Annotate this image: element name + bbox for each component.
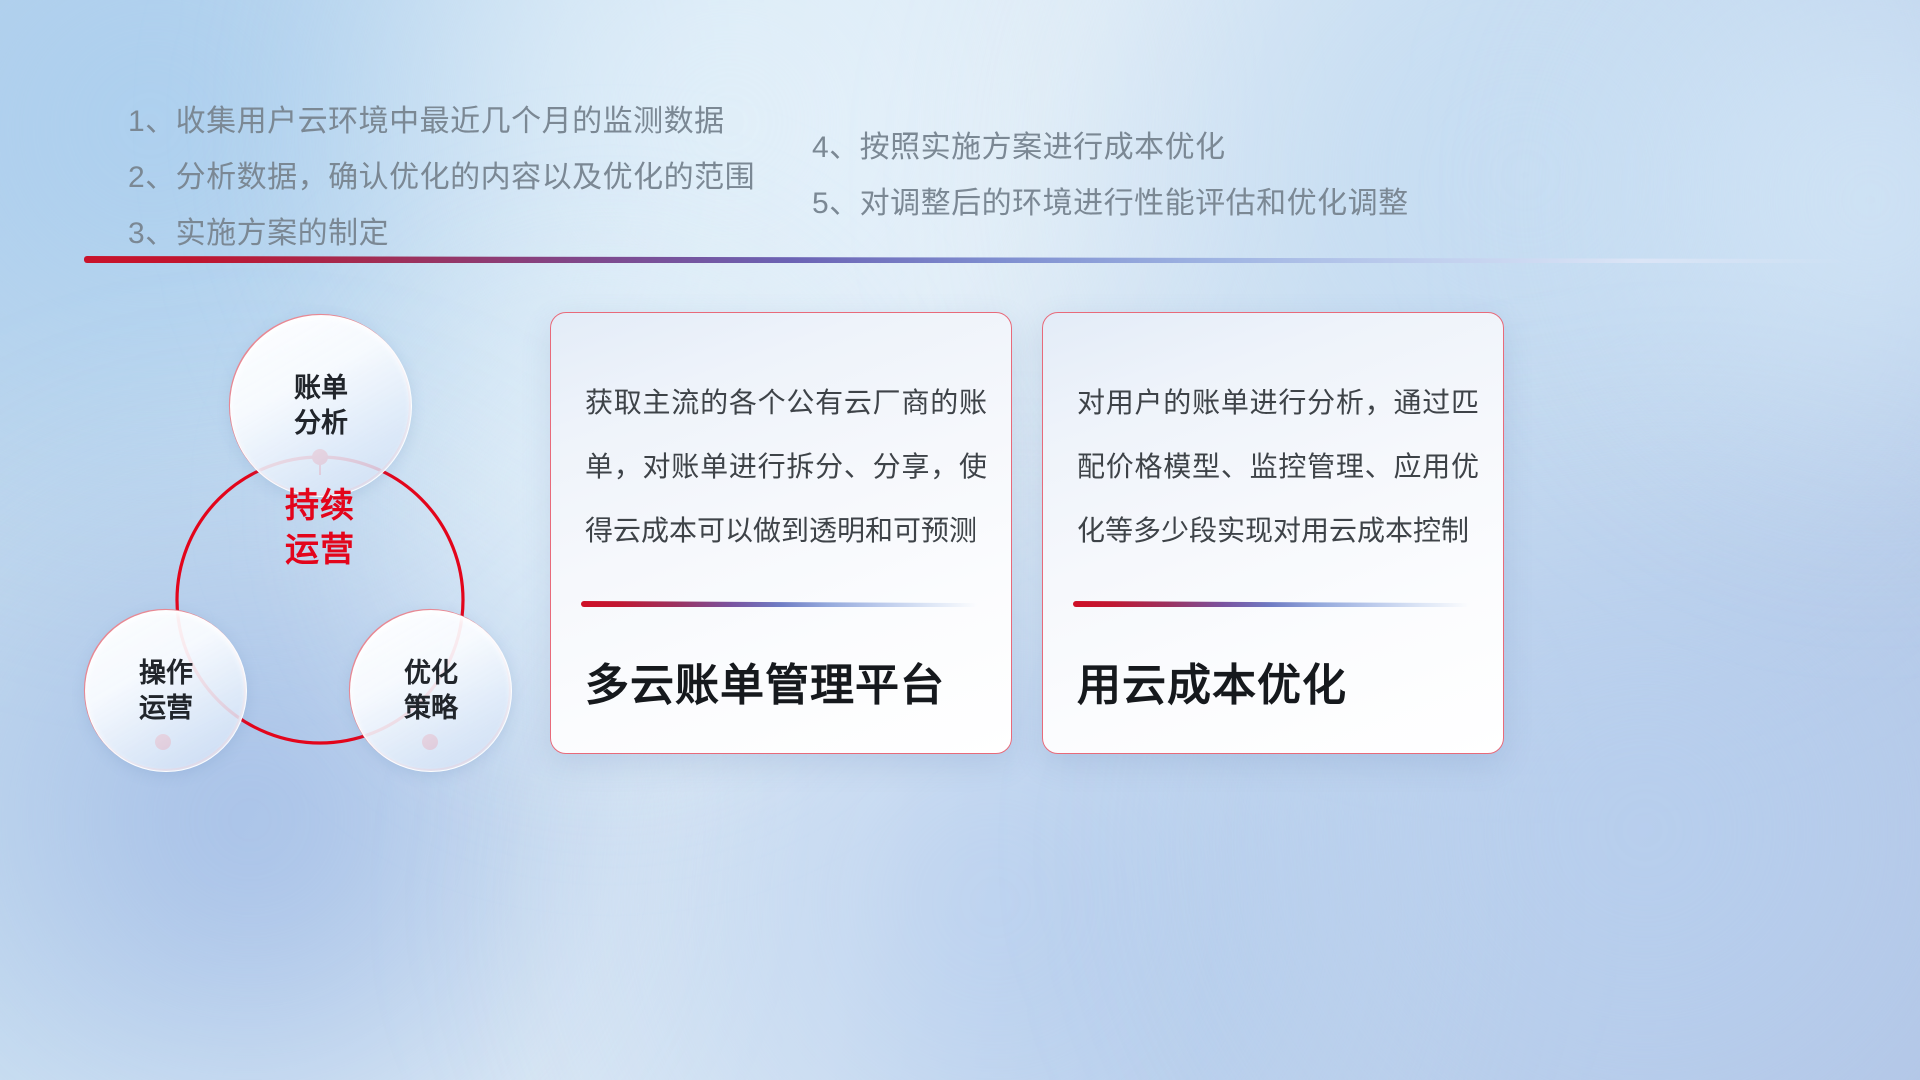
bubble-label-line2: 运营 xyxy=(139,693,193,723)
card-rule xyxy=(1073,601,1469,607)
bubble-label-line2: 分析 xyxy=(294,408,348,438)
card-rule xyxy=(581,601,977,607)
step-item: 4、按照实施方案进行成本优化 xyxy=(812,120,1409,176)
steps-list: 1、收集用户云环境中最近几个月的监测数据 2、分析数据，确认优化的内容以及优化的… xyxy=(0,0,1920,260)
step-item: 3、实施方案的制定 xyxy=(128,206,755,262)
continuous-operations-diagram: 账单分析 操作运营 优化策略 持续 运营 xyxy=(75,290,555,790)
bubble-label-line1: 账单 xyxy=(294,373,348,403)
bubble-optimization-strategy: 优化策略 xyxy=(350,610,512,772)
steps-right-column: 4、按照实施方案进行成本优化 5、对调整后的环境进行性能评估和优化调整 xyxy=(812,120,1409,232)
step-item: 5、对调整后的环境进行性能评估和优化调整 xyxy=(812,176,1409,232)
card-body-text: 获取主流的各个公有云厂商的账单，对账单进行拆分、分享，使得云成本可以做到透明和可… xyxy=(585,371,987,563)
card-body-text: 对用户的账单进行分析，通过匹配价格模型、监控管理、应用优化等多少段实现对用云成本… xyxy=(1077,371,1479,563)
bubble-label: 操作运营 xyxy=(139,656,193,725)
bubble-label: 优化策略 xyxy=(404,656,458,725)
center-label-line1: 持续 xyxy=(235,485,405,529)
bubble-bill-analysis: 账单分析 xyxy=(230,315,412,497)
bubble-label-line1: 操作 xyxy=(139,658,193,688)
feature-card[interactable]: 对用户的账单进行分析，通过匹配价格模型、监控管理、应用优化等多少段实现对用云成本… xyxy=(1042,312,1504,754)
steps-left-column: 1、收集用户云环境中最近几个月的监测数据 2、分析数据，确认优化的内容以及优化的… xyxy=(128,94,755,262)
bubble-label-line2: 策略 xyxy=(404,693,458,723)
diagram-center-label: 持续 运营 xyxy=(235,485,405,572)
feature-card[interactable]: 获取主流的各个公有云厂商的账单，对账单进行拆分、分享，使得云成本可以做到透明和可… xyxy=(550,312,1012,754)
step-item: 2、分析数据，确认优化的内容以及优化的范围 xyxy=(128,150,755,206)
center-label-line2: 运营 xyxy=(235,529,405,573)
card-title: 多云账单管理平台 xyxy=(585,649,987,713)
bubble-label: 账单分析 xyxy=(294,371,348,440)
bubble-label-line1: 优化 xyxy=(404,658,458,688)
bubble-operations: 操作运营 xyxy=(85,610,247,772)
step-item: 1、收集用户云环境中最近几个月的监测数据 xyxy=(128,94,755,150)
card-title: 用云成本优化 xyxy=(1077,649,1479,713)
